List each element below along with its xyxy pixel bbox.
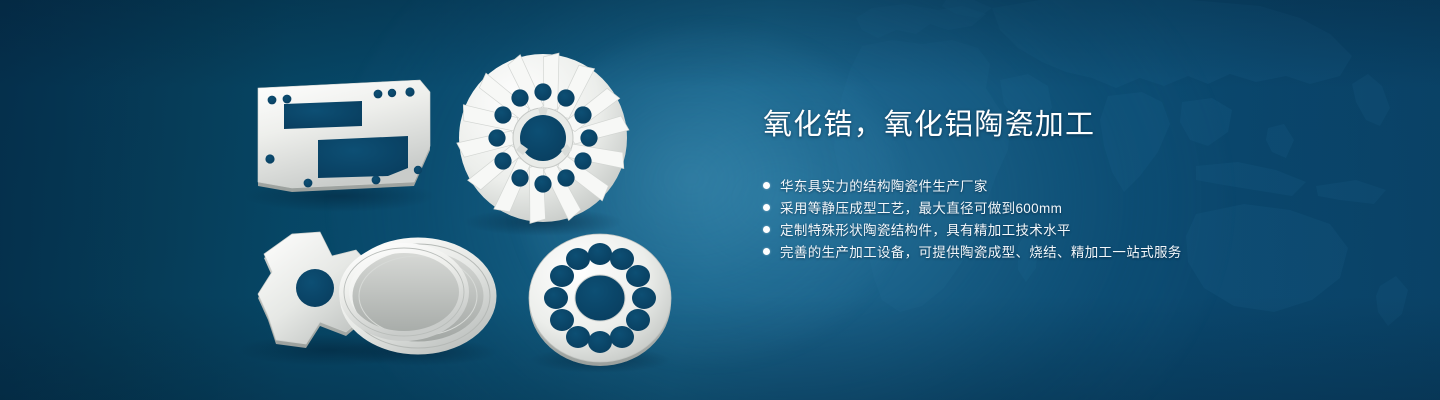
bullet-dot <box>763 248 770 255</box>
feature-text: 华东具实力的结构陶瓷件生产厂家 <box>780 175 988 195</box>
feature-text: 采用等静压成型工艺，最大直径可做到600mm <box>780 197 1062 217</box>
ceramic-impeller-disc <box>456 49 630 236</box>
list-item: 华东具实力的结构陶瓷件生产厂家 <box>763 174 1363 196</box>
feature-text: 定制特殊形状陶瓷结构件，具有精加工技术水平 <box>780 219 1071 239</box>
ceramic-hole-disc <box>529 234 671 373</box>
ceramic-rings <box>338 244 498 366</box>
bullet-dot <box>763 182 770 189</box>
ceramic-machined-plate <box>244 80 436 212</box>
hero-banner: 氧化锆，氧化铝陶瓷加工 华东具实力的结构陶瓷件生产厂家 采用等静压成型工艺，最大… <box>0 0 1440 400</box>
banner-headline: 氧化锆，氧化铝陶瓷加工 <box>763 108 1363 143</box>
list-item: 定制特殊形状陶瓷结构件，具有精加工技术水平 <box>763 218 1363 240</box>
bullet-dot <box>763 226 770 233</box>
list-item: 完善的生产加工设备，可提供陶瓷成型、烧结、精加工一站式服务 <box>763 240 1363 262</box>
bullet-dot <box>763 204 770 211</box>
banner-copy: 氧化锆，氧化铝陶瓷加工 华东具实力的结构陶瓷件生产厂家 采用等静压成型工艺，最大… <box>763 108 1363 262</box>
list-item: 采用等静压成型工艺，最大直径可做到600mm <box>763 196 1363 218</box>
product-photo-cluster <box>0 0 720 400</box>
feature-text: 完善的生产加工设备，可提供陶瓷成型、烧结、精加工一站式服务 <box>780 241 1182 261</box>
feature-list: 华东具实力的结构陶瓷件生产厂家 采用等静压成型工艺，最大直径可做到600mm 定… <box>763 174 1363 262</box>
